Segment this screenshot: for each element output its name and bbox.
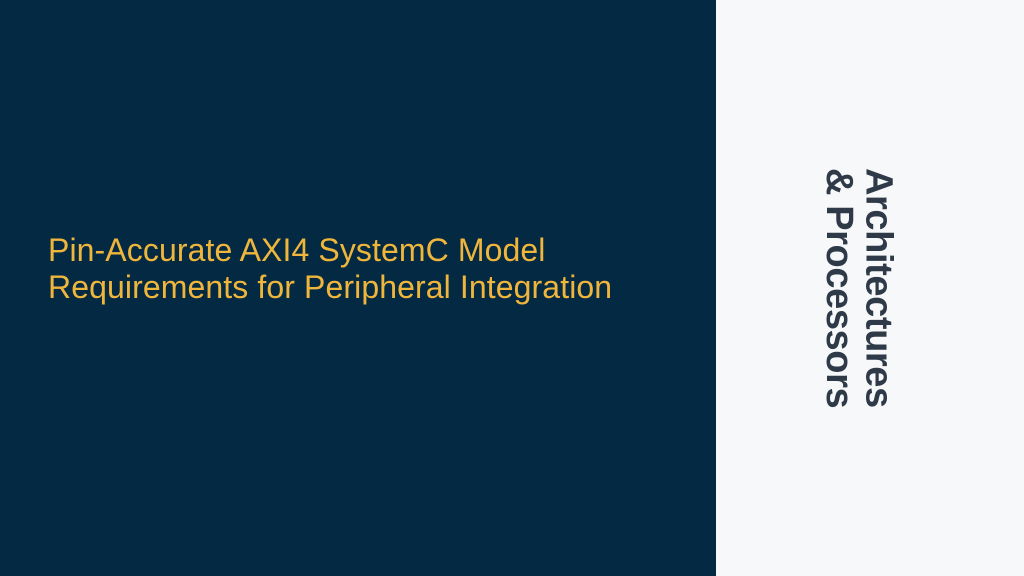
category-label: Architectures & Processors: [716, 0, 1024, 576]
slide-main-panel: Pin-Accurate AXI4 SystemC Model Requirem…: [0, 0, 716, 576]
presentation-slide: Pin-Accurate AXI4 SystemC Model Requirem…: [0, 0, 1024, 576]
category-label-line-1: Architectures: [858, 168, 898, 408]
category-side-panel: Architectures & Processors: [716, 0, 1024, 576]
category-label-line-2: & Processors: [818, 168, 858, 408]
slide-title: Pin-Accurate AXI4 SystemC Model Requirem…: [48, 232, 688, 305]
title-block: Pin-Accurate AXI4 SystemC Model Requirem…: [48, 232, 688, 305]
